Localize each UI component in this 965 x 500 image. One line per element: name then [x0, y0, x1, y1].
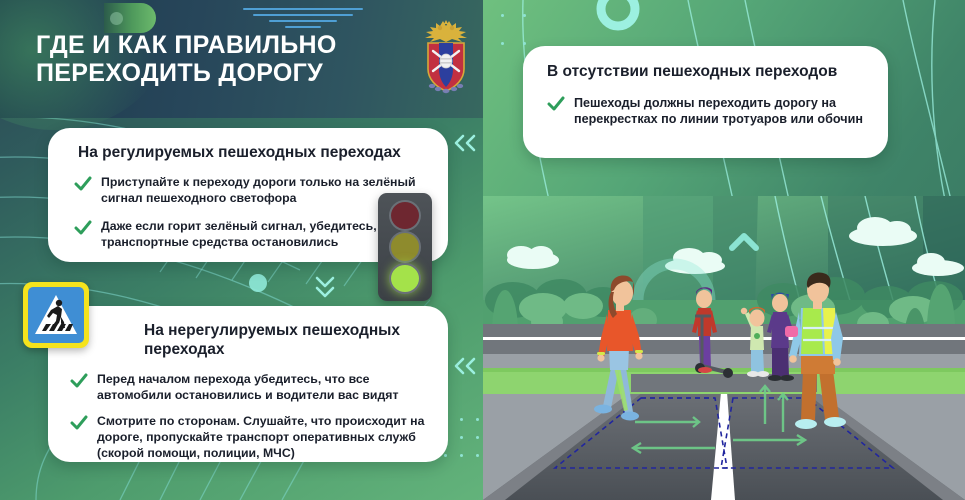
traffic-lamp-red [389, 200, 421, 231]
bullet-item: Приступайте к переходу дороги только на … [74, 175, 430, 206]
green-check-icon [74, 220, 92, 241]
bullet-item: Даже если горит зелёный сигнал, убедитес… [74, 219, 430, 250]
card-unregulated-bullets: Перед началом перехода убедитесь, что вс… [48, 360, 448, 462]
card-unregulated-heading: На нерегулируемых пешеходных переходах [48, 306, 448, 360]
traffic-lamp-yellow [389, 231, 421, 262]
bullet-text: Перед началом перехода убедитесь, что вс… [97, 372, 434, 403]
mvd-eagle-emblem-icon [418, 17, 474, 97]
bullet-item: Пешеходы должны переходить дорогу на пер… [547, 95, 874, 127]
d-mark-logo [104, 3, 156, 33]
green-check-icon [70, 373, 88, 394]
card-regulated-heading: На регулируемых пешеходных переходах [48, 128, 448, 163]
right-panel: В отсутствии пешеходных переходов Пешехо… [483, 0, 965, 500]
traffic-lamp-green [389, 263, 421, 294]
bullet-item: Смотрите по сторонам. Слушайте, что прои… [70, 414, 434, 461]
bullet-item: Перед началом перехода убедитесь, что вс… [70, 372, 434, 403]
green-check-icon [74, 176, 92, 197]
bullet-text: Смотрите по сторонам. Слушайте, что прои… [97, 414, 434, 461]
pedestrian-crossing-sign-icon [23, 282, 89, 348]
traffic-light-icon [378, 193, 432, 301]
ring-decor [593, 0, 643, 34]
card-unregulated-crossings: На нерегулируемых пешеходных переходах П… [48, 306, 448, 462]
card-absent-bullets: Пешеходы должны переходить дорогу на пер… [523, 82, 888, 127]
left-panel: ГДЕ И КАК ПРАВИЛЬНО ПЕРЕХОДИТЬ ДОРОГУ [0, 0, 483, 500]
chevron-double-down-icon [313, 274, 337, 300]
bullet-text: Пешеходы должны переходить дорогу на пер… [574, 95, 874, 127]
card-absent-crossings: В отсутствии пешеходных переходов Пешехо… [523, 46, 888, 158]
chevron-double-left-icon [452, 133, 478, 153]
card-absent-heading: В отсутствии пешеходных переходов [523, 46, 888, 82]
page-title-line1: ГДЕ И КАК ПРАВИЛЬНО [36, 31, 406, 59]
green-check-icon [70, 415, 88, 436]
infographic-poster: ГДЕ И КАК ПРАВИЛЬНО ПЕРЕХОДИТЬ ДОРОГУ [0, 0, 965, 500]
street-crossing-illustration [483, 196, 965, 500]
page-title-line2: ПЕРЕХОДИТЬ ДОРОГУ [36, 59, 406, 87]
green-check-icon [547, 96, 565, 117]
dot-grid-decor [444, 418, 483, 478]
page-title: ГДЕ И КАК ПРАВИЛЬНО ПЕРЕХОДИТЬ ДОРОГУ [36, 31, 406, 87]
chevron-double-left-icon-2 [452, 356, 478, 376]
